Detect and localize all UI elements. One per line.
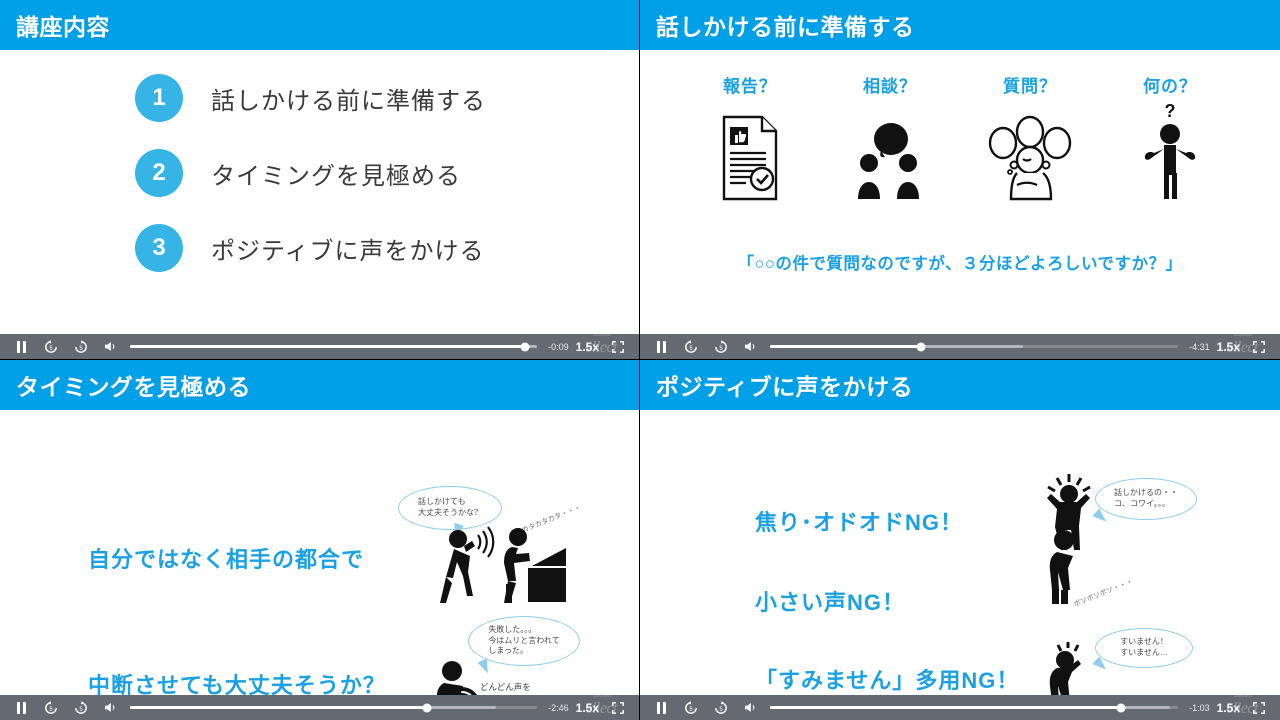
list-item: 報告？ (690, 72, 810, 201)
headline-text: 中断させても大丈夫そうか？ (88, 668, 386, 695)
page-title: ポジティブに声をかける (656, 368, 913, 402)
progress-played (770, 345, 921, 348)
slide-agenda: 講座内容 1 話しかける前に準備する 2 タイミングを見極める 3 ポジティブに… (0, 0, 639, 334)
page-title: タイミングを見極める (16, 368, 251, 402)
svg-text:5: 5 (79, 706, 83, 712)
list-item: 3 ポジティブに声をかける (135, 224, 639, 272)
pause-button[interactable] (646, 695, 676, 720)
document-thumbsup-icon (690, 111, 810, 201)
slide-body: 報告？ (640, 50, 1280, 334)
speech-bubble-text: 話しかけるの・・ コ、コワイ。。。 (1114, 488, 1178, 510)
progress-played (130, 345, 525, 348)
slide-body: 1 話しかける前に準備する 2 タイミングを見極める 3 ポジティブに声をかける (0, 50, 639, 334)
playback-speed-button[interactable]: 1.5x (572, 340, 603, 354)
fullscreen-icon[interactable] (1244, 695, 1274, 720)
rewind-5-icon[interactable]: 5 (36, 334, 66, 359)
progress-thumb[interactable] (423, 703, 432, 712)
headline-text: 焦り･オドオドNG！ (755, 505, 963, 537)
agenda-number-badge: 2 (135, 149, 183, 197)
video-panel-agenda[interactable]: 講座内容 1 話しかける前に準備する 2 タイミングを見極める 3 ポジティブに… (0, 0, 640, 360)
time-remaining: -2:46 (545, 703, 572, 713)
progress-thumb[interactable] (917, 342, 926, 351)
svg-text:5: 5 (49, 345, 53, 351)
time-remaining: -1:03 (1186, 703, 1213, 713)
slide-positive: ポジティブに声をかける 焦り･オドオドNG！ 小さい声NG！ 「すみません」多用… (640, 360, 1280, 695)
forward-5-icon[interactable]: 5 (66, 695, 96, 720)
list-item: 1 話しかける前に準備する (135, 74, 639, 122)
time-remaining: -0:09 (545, 342, 572, 352)
rewind-5-icon[interactable]: 5 (676, 334, 706, 359)
fullscreen-icon[interactable] (603, 695, 633, 720)
time-remaining: -4:31 (1186, 342, 1213, 352)
progress-scrubber[interactable] (770, 334, 1178, 359)
volume-icon[interactable] (96, 695, 126, 720)
forward-5-icon[interactable]: 5 (66, 334, 96, 359)
page-title: 講座内容 (16, 8, 110, 42)
video-panel-positive[interactable]: ポジティブに声をかける 焦り･オドオドNG！ 小さい声NG！ 「すみません」多用… (640, 360, 1280, 720)
slide-header: タイミングを見極める (0, 360, 639, 410)
player-controls: 5 5 -4:31 1.5x Business e (640, 334, 1280, 359)
slide-body: 焦り･オドオドNG！ 小さい声NG！ 「すみません」多用NG！ 話しかけるの・・… (640, 410, 1280, 695)
progress-track[interactable] (130, 345, 537, 348)
agenda-number-badge: 3 (135, 224, 183, 272)
prepare-columns: 報告？ (640, 50, 1280, 201)
player-controls: 5 5 -0:09 1.5x Business e (0, 334, 639, 359)
speech-bubble-text: すいません！ すいません… (1120, 637, 1168, 659)
agenda-item-label: ポジティブに声をかける (211, 231, 485, 266)
person-calling-and-person-at-desk-icon (432, 522, 576, 615)
video-panel-prepare[interactable]: 話しかける前に準備する 報告？ (640, 0, 1280, 360)
playback-speed-button[interactable]: 1.5x (1213, 340, 1244, 354)
svg-text:5: 5 (689, 345, 693, 351)
progress-scrubber[interactable] (130, 334, 537, 359)
svg-text:5: 5 (49, 706, 53, 712)
player-controls: 5 5 -2:46 1.5x Business e (0, 695, 639, 720)
column-label: 報告？ (690, 72, 810, 97)
headline-text: 「すみません」多用NG！ (755, 663, 1019, 695)
svg-text:?: ? (1165, 101, 1176, 121)
column-label: 相談？ (830, 72, 950, 97)
quote-text: 「○○の件で質問なのですが、３分ほどよろしいですか？」 (640, 250, 1280, 274)
list-item: 何の？ ? (1110, 72, 1230, 201)
agenda-list: 1 話しかける前に準備する 2 タイミングを見極める 3 ポジティブに声をかける (0, 50, 639, 272)
list-item: 質問？ (970, 72, 1090, 201)
column-label: 何の？ (1110, 72, 1230, 97)
progress-track[interactable] (130, 706, 537, 709)
svg-text:5: 5 (719, 345, 723, 351)
progress-track[interactable] (770, 345, 1178, 348)
svg-text:5: 5 (689, 706, 693, 712)
person-thought-bubbles-icon (970, 111, 1090, 201)
page-title: 話しかける前に準備する (656, 8, 915, 42)
agenda-number-badge: 1 (135, 74, 183, 122)
progress-played (130, 706, 427, 709)
playback-speed-button[interactable]: 1.5x (572, 701, 603, 715)
slide-header: 話しかける前に準備する (640, 0, 1280, 50)
rewind-5-icon[interactable]: 5 (36, 695, 66, 720)
player-controls: 5 5 -1:03 1.5x Business e (640, 695, 1280, 720)
speech-bubble: すいません！ すいません… (1095, 628, 1193, 668)
agenda-item-label: タイミングを見極める (211, 156, 461, 191)
agenda-item-label: 話しかける前に準備する (211, 81, 486, 116)
speech-bubble-text: 失敗した。。。 今はムリと言われて しまった。 (488, 625, 559, 657)
video-panel-timing[interactable]: タイミングを見極める 自分ではなく相手の都合で 中断させても大丈夫そうか？ 話し… (0, 360, 640, 720)
caption-text: どんどん声を かけづらく・・・ (480, 682, 548, 695)
speech-bubble: 話しかけるの・・ コ、コワイ。。。 (1095, 478, 1197, 520)
pause-button[interactable] (646, 334, 676, 359)
progress-scrubber[interactable] (770, 695, 1178, 720)
slide-header: ポジティブに声をかける (640, 360, 1280, 410)
headline-text: 小さい声NG！ (755, 585, 905, 617)
headline-text: 自分ではなく相手の都合で (88, 542, 364, 574)
volume-icon[interactable] (736, 334, 766, 359)
fullscreen-icon[interactable] (1244, 334, 1274, 359)
speech-bubble-text: 話しかけても 大丈夫そうかな？ (418, 497, 482, 519)
forward-5-icon[interactable]: 5 (706, 334, 736, 359)
forward-5-icon[interactable]: 5 (706, 695, 736, 720)
person-mumbling-icon (1040, 528, 1086, 611)
progress-scrubber[interactable] (130, 695, 537, 720)
rewind-5-icon[interactable]: 5 (676, 695, 706, 720)
fullscreen-icon[interactable] (603, 334, 633, 359)
slide-body: 自分ではなく相手の都合で 中断させても大丈夫そうか？ 話しかけても 大丈夫そうか… (0, 410, 639, 695)
slide-prepare: 話しかける前に準備する 報告？ (640, 0, 1280, 334)
slide-timing: タイミングを見極める 自分ではなく相手の都合で 中断させても大丈夫そうか？ 話し… (0, 360, 639, 695)
svg-text:5: 5 (719, 706, 723, 712)
column-label: 質問？ (970, 72, 1090, 97)
video-grid: 講座内容 1 話しかける前に準備する 2 タイミングを見極める 3 ポジティブに… (0, 0, 1280, 720)
progress-thumb[interactable] (520, 342, 529, 351)
progress-played (770, 706, 1121, 709)
volume-icon[interactable] (736, 695, 766, 720)
playback-speed-button[interactable]: 1.5x (1213, 701, 1244, 715)
volume-icon[interactable] (96, 334, 126, 359)
pause-button[interactable] (6, 695, 36, 720)
progress-thumb[interactable] (1116, 703, 1125, 712)
list-item: 相談？ (830, 72, 950, 201)
person-shrug-question-icon: ? (1110, 111, 1230, 201)
pause-button[interactable] (6, 334, 36, 359)
two-people-talking-icon (830, 111, 950, 201)
progress-track[interactable] (770, 706, 1178, 709)
list-item: 2 タイミングを見極める (135, 149, 639, 197)
person-apologizing-icon (1038, 640, 1094, 695)
svg-text:5: 5 (79, 345, 83, 351)
slide-header: 講座内容 (0, 0, 639, 50)
